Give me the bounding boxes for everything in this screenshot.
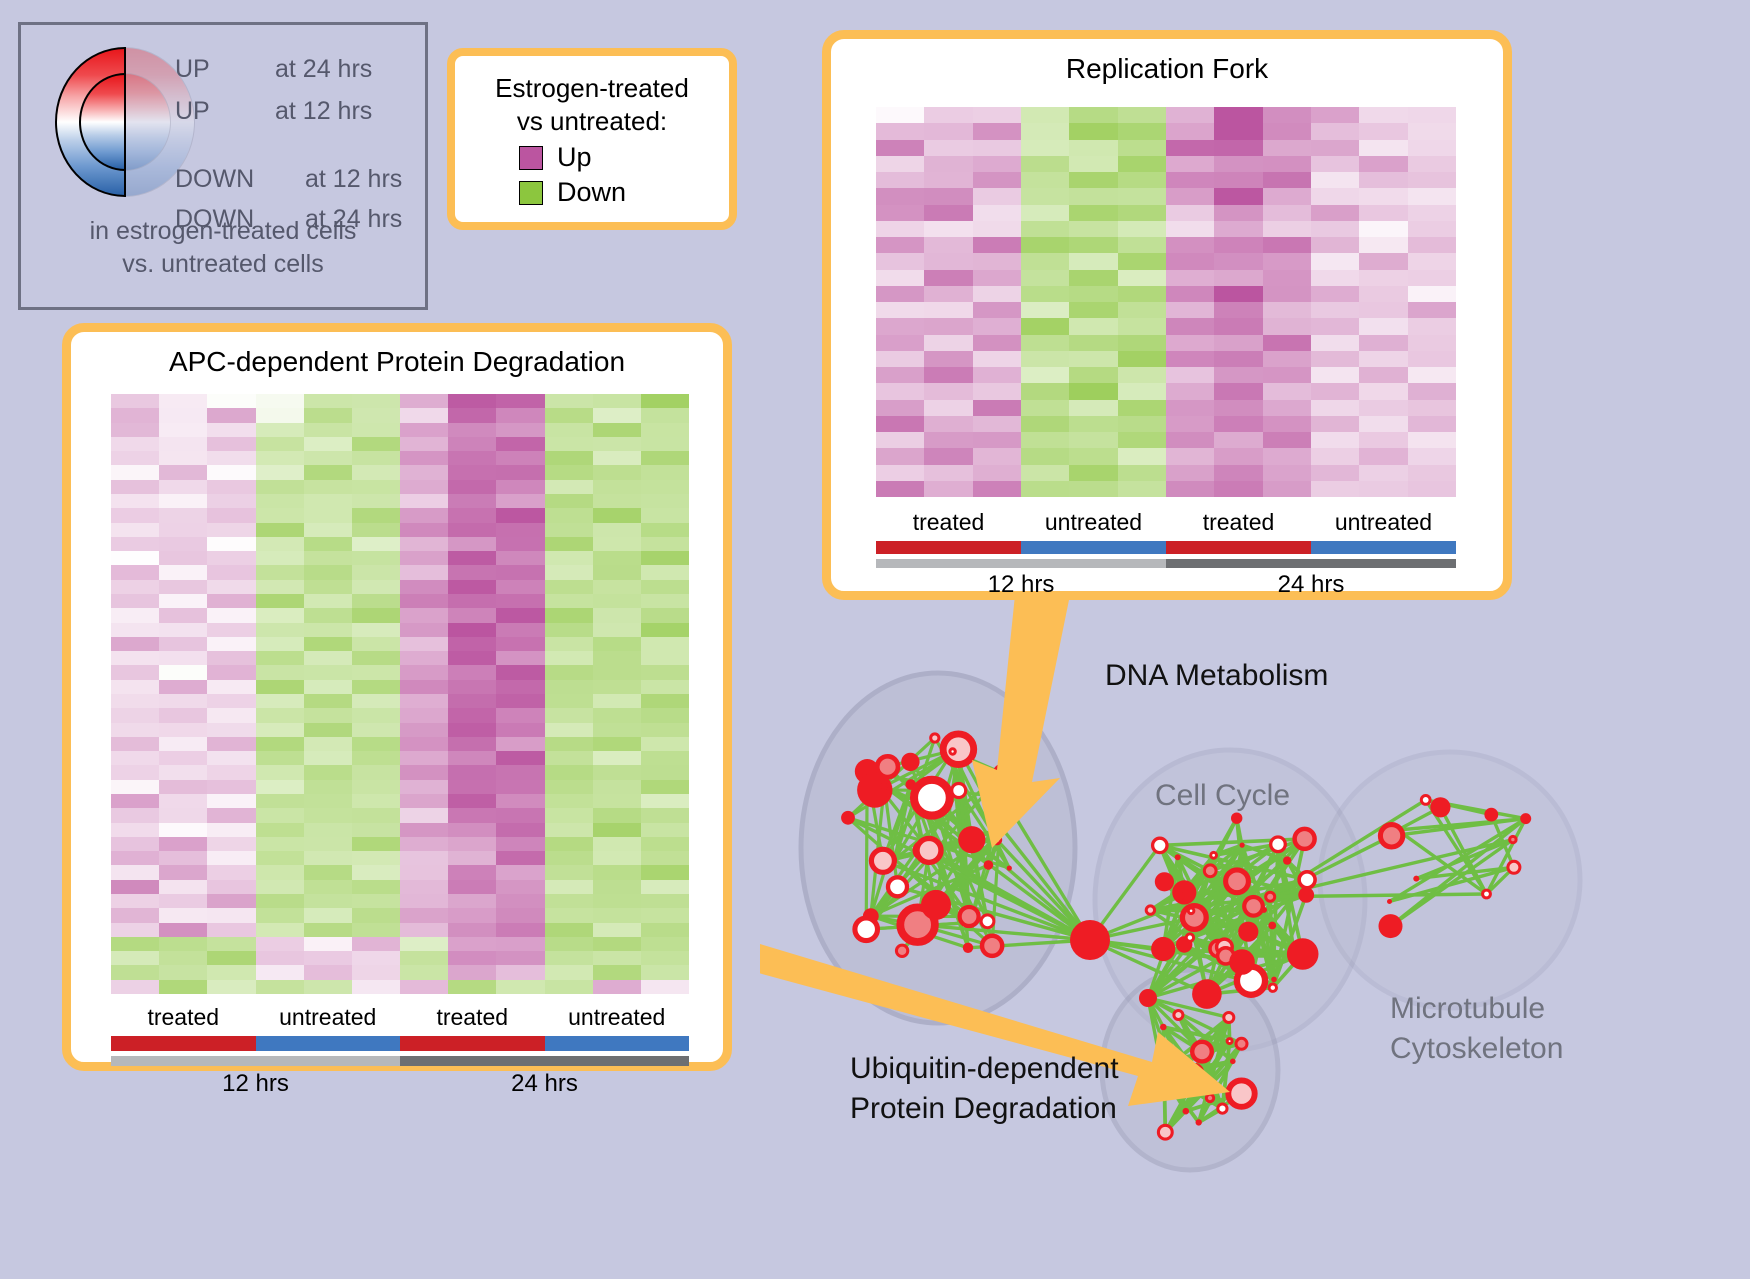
time-label-1: 24 hrs (400, 1070, 689, 1098)
heatmap-cell (593, 823, 641, 837)
heatmap-cell (1118, 237, 1166, 253)
heatmap-cell (545, 394, 593, 408)
heatmap-cell (924, 335, 972, 351)
heatmap-cell (256, 694, 304, 708)
heatmap-cell (304, 908, 352, 922)
network-node (981, 915, 994, 928)
heatmap-cell (545, 908, 593, 922)
heatmap-cell (400, 851, 448, 865)
heatmap-cell (256, 537, 304, 551)
network-node (1287, 938, 1319, 970)
heatmap-cell (1311, 351, 1359, 367)
heatmap-cell (304, 580, 352, 594)
up-label: Up (557, 142, 592, 173)
heatmap-cell (924, 351, 972, 367)
heatmap-cell (448, 837, 496, 851)
heatmap-cell (924, 123, 972, 139)
heatmap-cell (448, 737, 496, 751)
heatmap-cell (352, 980, 400, 994)
heatmap-cell (1069, 367, 1117, 383)
heatmap-cell (641, 394, 689, 408)
heatmap-cell (1408, 448, 1456, 464)
heatmap-cell (545, 565, 593, 579)
time-bar-1 (1166, 559, 1456, 568)
group-bar-1 (1021, 541, 1166, 554)
heatmap-cell (593, 708, 641, 722)
network-node (855, 918, 878, 941)
heatmap-cell (111, 937, 159, 951)
heatmap-cell (1359, 481, 1407, 497)
network-node (960, 907, 979, 926)
heatmap-cell (111, 594, 159, 608)
heatmap-cell (1069, 383, 1117, 399)
heatmap-cell (545, 723, 593, 737)
legend-key-up-12: UP (175, 97, 210, 126)
heatmap-cell (448, 594, 496, 608)
heatmap-cell (352, 551, 400, 565)
heatmap-cell (256, 551, 304, 565)
legend-time-up-12: at 12 hrs (275, 97, 372, 126)
heatmap-cell (1021, 107, 1069, 123)
heatmap-cell (1166, 318, 1214, 334)
network-node (1379, 914, 1403, 938)
heatmap-cell (545, 865, 593, 879)
heatmap-cell (448, 723, 496, 737)
network-node (1227, 1039, 1232, 1044)
heatmap-cell (496, 551, 544, 565)
heatmap-cell (448, 480, 496, 494)
heatmap-cell (304, 680, 352, 694)
heatmap-cell (496, 780, 544, 794)
heatmap-cell (496, 837, 544, 851)
group-bar-2 (400, 1036, 545, 1051)
heatmap-cell (352, 923, 400, 937)
heatmap-cell (1118, 432, 1166, 448)
heatmap-cell (593, 794, 641, 808)
heatmap-cell (641, 937, 689, 951)
heatmap-cell (876, 465, 924, 481)
heatmap-cell (256, 423, 304, 437)
heatmap-cell (1021, 400, 1069, 416)
heatmap-cell (924, 188, 972, 204)
heatmap-cell (304, 980, 352, 994)
heatmap-cell (876, 367, 924, 383)
heatmap-cell (159, 937, 207, 951)
heatmap-cell (1359, 270, 1407, 286)
heatmap-cell (593, 880, 641, 894)
network-node (984, 860, 994, 870)
heatmap-cell (111, 565, 159, 579)
heatmap-cell (1118, 481, 1166, 497)
heatmap-cell (256, 923, 304, 937)
heatmap-cell (593, 808, 641, 822)
heatmap-cell (304, 651, 352, 665)
heatmap-cell (207, 951, 255, 965)
heatmap-cell (207, 923, 255, 937)
heatmap-cell (496, 437, 544, 451)
heatmap-cell (973, 465, 1021, 481)
heatmap-cell (207, 423, 255, 437)
network-node (1160, 1024, 1167, 1031)
heatmap-cell (641, 951, 689, 965)
axis-apc: treateduntreatedtreateduntreated 12 hrs2… (111, 1004, 689, 1094)
heatmap-cell (1214, 400, 1262, 416)
axis-replication-fork: treateduntreatedtreateduntreated 12 hrs2… (876, 509, 1456, 599)
heatmap-cell (400, 408, 448, 422)
heatmap-cell (400, 608, 448, 622)
heatmap-cell (973, 270, 1021, 286)
heatmap-cell (1311, 302, 1359, 318)
network-node (1186, 934, 1193, 941)
heatmap-cell (876, 302, 924, 318)
heatmap-cell (641, 594, 689, 608)
heatmap-cell (111, 751, 159, 765)
heatmap-cell (1021, 481, 1069, 497)
heatmap-cell (593, 465, 641, 479)
heatmap-cell (448, 780, 496, 794)
heatmap-cell (1311, 237, 1359, 253)
heatmap-cell (448, 408, 496, 422)
heatmap-cell (641, 608, 689, 622)
heatmap-cell (111, 637, 159, 651)
heatmap-cell (448, 794, 496, 808)
heatmap-cell (1069, 286, 1117, 302)
heatmap-cell (1311, 335, 1359, 351)
heatmap-cell (256, 794, 304, 808)
heatmap-cell (304, 765, 352, 779)
heatmap-cell (1166, 188, 1214, 204)
heatmap-cell (159, 480, 207, 494)
heatmap-cell (111, 408, 159, 422)
heatmap-cell (545, 494, 593, 508)
heatmap-cell (111, 765, 159, 779)
heatmap-cell (1263, 156, 1311, 172)
heatmap-cell (545, 923, 593, 937)
heatmap-cell (1214, 416, 1262, 432)
heatmap-cell (1263, 400, 1311, 416)
heatmap-cell (448, 537, 496, 551)
heatmap-cell (400, 394, 448, 408)
heatmap-cell (448, 394, 496, 408)
heatmap-cell (1069, 335, 1117, 351)
heatmap-cell (1263, 237, 1311, 253)
heatmap-cell (304, 780, 352, 794)
heatmap-cell (352, 623, 400, 637)
heatmap-cell (496, 408, 544, 422)
network-node (1211, 852, 1217, 858)
heatmap-cell (1166, 172, 1214, 188)
heatmap-cell (973, 221, 1021, 237)
heatmap-cell (207, 780, 255, 794)
network-node (1380, 825, 1402, 847)
heatmap-cell (448, 437, 496, 451)
heatmap-cell (352, 965, 400, 979)
network-node (1271, 837, 1286, 852)
heatmap-cell (111, 965, 159, 979)
network-node (1176, 892, 1184, 900)
heatmap-cell (593, 523, 641, 537)
heatmap-cell (304, 665, 352, 679)
heatmap-cell (641, 437, 689, 451)
heatmap-cell (1263, 140, 1311, 156)
heatmap-cell (304, 523, 352, 537)
heatmap-cell (207, 623, 255, 637)
heatmap-cell (876, 400, 924, 416)
heatmap-cell (1214, 123, 1262, 139)
heatmap-cell (352, 408, 400, 422)
heatmap-cell (207, 808, 255, 822)
heatmap-cell (448, 680, 496, 694)
heatmap-cell (207, 408, 255, 422)
network-node (950, 749, 955, 754)
heatmap-cell (159, 708, 207, 722)
heatmap-cell (1069, 253, 1117, 269)
network-node (1510, 836, 1516, 842)
heatmap-cell (876, 383, 924, 399)
heatmap-cell (207, 965, 255, 979)
heatmap-cell (496, 451, 544, 465)
heatmap-cell (159, 894, 207, 908)
heatmap-cell (1214, 448, 1262, 464)
heatmap-cell (545, 880, 593, 894)
heatmap-cell (1359, 318, 1407, 334)
heatmap-cell (1166, 237, 1214, 253)
heatmap-cell (1359, 351, 1407, 367)
heatmap-cell (1408, 302, 1456, 318)
heatmap-cell (1263, 318, 1311, 334)
heatmap-cell (111, 508, 159, 522)
heatmap-cell (400, 723, 448, 737)
heatmap-cell (448, 980, 496, 994)
heatmap-cell (1359, 205, 1407, 221)
heatmap-cell (641, 965, 689, 979)
heatmap-cell (1069, 416, 1117, 432)
heatmap-cell (1263, 107, 1311, 123)
heatmap-cell (111, 894, 159, 908)
heatmap-cell (876, 188, 924, 204)
heatmap-cell (400, 880, 448, 894)
network-node (914, 780, 950, 816)
network-node (1508, 861, 1520, 873)
heatmap-cell (496, 765, 544, 779)
heatmap-cell (256, 494, 304, 508)
heatmap-cell (1214, 205, 1262, 221)
heatmap-cell (207, 565, 255, 579)
heatmap-cell (1166, 205, 1214, 221)
heatmap-cell (1021, 156, 1069, 172)
heatmap-cell (1263, 253, 1311, 269)
heatmap-cell (973, 286, 1021, 302)
heatmap-cell (973, 123, 1021, 139)
heatmap-cell (973, 107, 1021, 123)
heatmap-cell (1118, 302, 1166, 318)
heatmap-cell (1118, 253, 1166, 269)
network-node (1007, 866, 1012, 871)
network-node (1229, 949, 1255, 975)
heatmap-cell (641, 708, 689, 722)
heatmap-cell (641, 837, 689, 851)
heatmap-cell (352, 637, 400, 651)
heatmap-cell (256, 665, 304, 679)
heatmap-cell (1166, 465, 1214, 481)
heatmap-cell (304, 565, 352, 579)
heatmap-cell (159, 408, 207, 422)
heatmap-cell (207, 494, 255, 508)
heatmap-cell (159, 837, 207, 851)
heatmap-cell (641, 923, 689, 937)
heatmap-cell (545, 837, 593, 851)
heatmap-cell (111, 665, 159, 679)
heatmap-cell (641, 665, 689, 679)
heatmap-cell (256, 808, 304, 822)
heatmap-cell (304, 794, 352, 808)
heatmap-cell (111, 923, 159, 937)
heatmap-cell (111, 423, 159, 437)
heatmap-cell (159, 694, 207, 708)
heatmap-cell (256, 594, 304, 608)
heatmap-cell (593, 451, 641, 465)
heatmap-cell (1166, 383, 1214, 399)
heatmap-apc (111, 394, 689, 994)
heatmap-cell (641, 694, 689, 708)
heatmap-cell (973, 351, 1021, 367)
heatmap-cell (1166, 481, 1214, 497)
heatmap-cell (400, 494, 448, 508)
heatmap-cell (304, 494, 352, 508)
heatmap-cell (496, 823, 544, 837)
heatmap-cell (400, 908, 448, 922)
heatmap-cell (1069, 448, 1117, 464)
heatmap-cell (1359, 188, 1407, 204)
heatmap-cell (973, 400, 1021, 416)
heatmap-cell (159, 394, 207, 408)
heatmap-cell (1408, 123, 1456, 139)
heatmap-cell (876, 140, 924, 156)
network-node (871, 849, 894, 872)
heatmap-cell (876, 107, 924, 123)
heatmap-cell (1359, 383, 1407, 399)
heatmap-cell (1311, 367, 1359, 383)
heatmap-cell (1166, 123, 1214, 139)
heatmap-cell (111, 523, 159, 537)
time-label-1: 24 hrs (1166, 571, 1456, 599)
heatmap-cell (448, 508, 496, 522)
time-labels-replication-fork: 12 hrs24 hrs (876, 571, 1456, 599)
heatmap-cell (1214, 318, 1262, 334)
heatmap-cell (159, 565, 207, 579)
group-label-1: untreated (1021, 509, 1166, 536)
heatmap-cell (1311, 465, 1359, 481)
heatmap-cell (352, 937, 400, 951)
heatmap-cell (304, 937, 352, 951)
network-node (1192, 1042, 1212, 1062)
heatmap-cell (400, 451, 448, 465)
heatmap-cell (448, 880, 496, 894)
heatmap-cell (352, 665, 400, 679)
heatmap-cell (400, 823, 448, 837)
panel-apc-degradation: APC-dependent Protein Degradation treate… (62, 323, 732, 1071)
heatmap-cell (641, 980, 689, 994)
heatmap-cell (876, 335, 924, 351)
network-node (1174, 1011, 1183, 1020)
heatmap-cell (304, 480, 352, 494)
heatmap-cell (1311, 156, 1359, 172)
heatmap-cell (207, 465, 255, 479)
heatmap-cell (1021, 335, 1069, 351)
heatmap-cell (641, 537, 689, 551)
group-color-bar-replication-fork (876, 541, 1456, 554)
heatmap-cell (304, 551, 352, 565)
group-label-3: untreated (1311, 509, 1456, 536)
heatmap-cell (1263, 172, 1311, 188)
group-label-1: untreated (256, 1004, 401, 1031)
heatmap-cell (593, 694, 641, 708)
heatmap-cell (352, 594, 400, 608)
heatmap-cell (1263, 448, 1311, 464)
heatmap-cell (1359, 156, 1407, 172)
heatmap-cell (1408, 107, 1456, 123)
heatmap-cell (400, 980, 448, 994)
heatmap-cell (352, 723, 400, 737)
heatmap-cell (545, 537, 593, 551)
heatmap-cell (593, 908, 641, 922)
heatmap-cell (496, 508, 544, 522)
heatmap-cell (496, 565, 544, 579)
heatmap-cell (1263, 432, 1311, 448)
heatmap-cell (545, 451, 593, 465)
heatmap-cell (1408, 188, 1456, 204)
heatmap-cell (400, 465, 448, 479)
heatmap-cell (1118, 335, 1166, 351)
heatmap-cell (1021, 448, 1069, 464)
heatmap-cell (304, 951, 352, 965)
heatmap-cell (1311, 270, 1359, 286)
heatmap-cell (352, 737, 400, 751)
heatmap-cell (1311, 253, 1359, 269)
network-node (1230, 1059, 1236, 1065)
heatmap-cell (1021, 172, 1069, 188)
heatmap-cell (876, 448, 924, 464)
heatmap-cell (352, 565, 400, 579)
heatmap-cell (304, 865, 352, 879)
heatmap-cell (448, 551, 496, 565)
heatmap-cell (593, 780, 641, 794)
heatmap-cell (593, 637, 641, 651)
heatmap-cell (207, 680, 255, 694)
heatmap-cell (1166, 335, 1214, 351)
heatmap-cell (1166, 302, 1214, 318)
network-node (1175, 854, 1181, 860)
heatmap-cell (448, 951, 496, 965)
heatmap-cell (256, 780, 304, 794)
heatmap-cell (207, 437, 255, 451)
heatmap-cell (1359, 432, 1407, 448)
heatmap-cell (1311, 383, 1359, 399)
heatmap-cell (159, 723, 207, 737)
heatmap-cell (1408, 318, 1456, 334)
heatmap-cell (496, 965, 544, 979)
heatmap-cell (1166, 432, 1214, 448)
up-down-legend-title-line1: Estrogen-treated (495, 72, 689, 105)
heatmap-cell (448, 694, 496, 708)
heatmap-cell (1214, 302, 1262, 318)
heatmap-cell (593, 894, 641, 908)
heatmap-cell (207, 694, 255, 708)
heatmap-cell (448, 965, 496, 979)
heatmap-cell (111, 651, 159, 665)
heatmap-cell (1069, 123, 1117, 139)
group-bar-0 (876, 541, 1021, 554)
